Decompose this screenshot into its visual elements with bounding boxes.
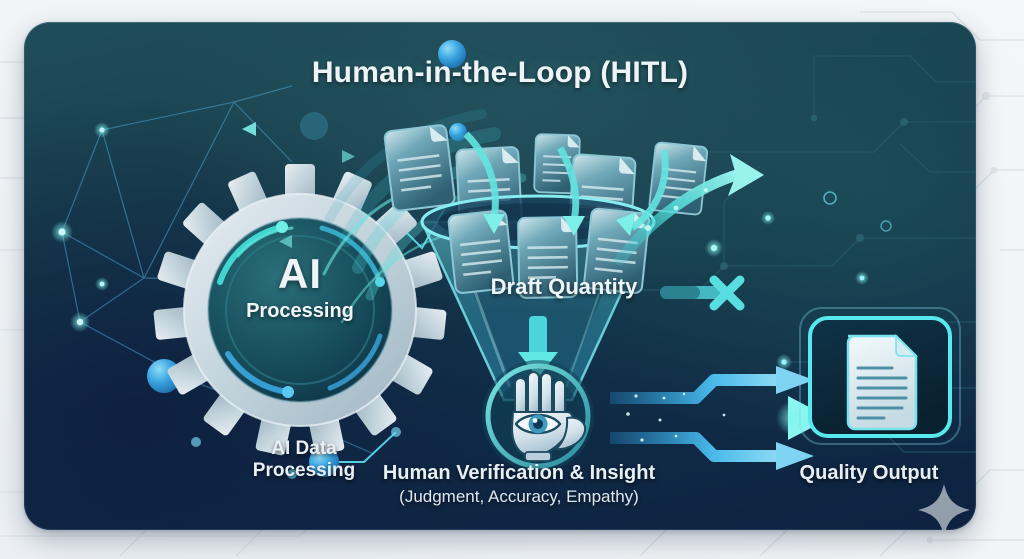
funnel-label: Draft Quantity — [464, 274, 664, 300]
infographic-card: Human-in-the-Loop (HITL) AI Processing D… — [24, 22, 976, 530]
output-panel — [800, 308, 960, 444]
stage-label-output: Quality Output — [764, 462, 974, 486]
hand-with-eye-icon — [482, 360, 594, 472]
stage-label-human: Human Verification & Insight — [354, 462, 684, 486]
page-title: Human-in-the-Loop (HITL) — [24, 56, 976, 90]
gear-secondary-label: Processing — [220, 300, 380, 323]
document-icon — [848, 336, 916, 429]
arrow-right-icon — [604, 366, 830, 470]
reject-marker — [660, 280, 740, 306]
page-background: Human-in-the-Loop (HITL) AI Processing D… — [0, 0, 1024, 559]
stage-sublabel-human: (Judgment, Accuracy, Empathy) — [354, 487, 684, 507]
stage-label-ai-line1: AI Data — [204, 438, 404, 460]
sparkle-icon — [918, 484, 970, 530]
gear-primary-label: AI — [230, 250, 370, 298]
